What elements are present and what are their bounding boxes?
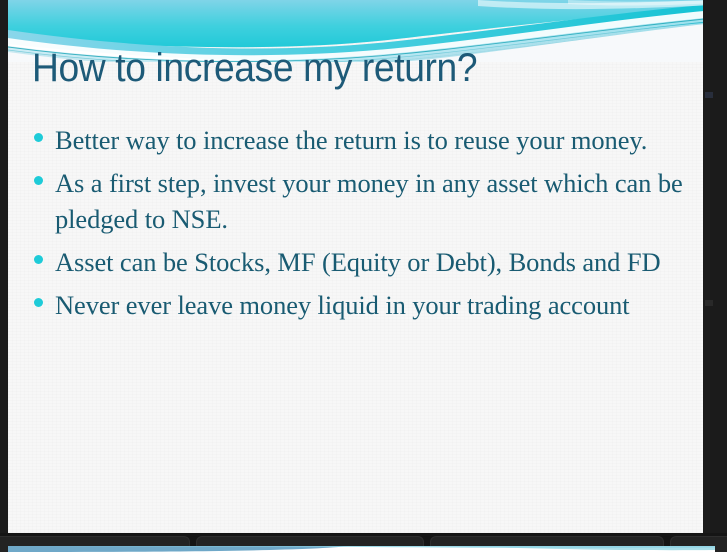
slide-body-bullet-list: Better way to increase the return is to …	[34, 122, 694, 330]
bullet-dot-icon	[34, 133, 43, 142]
list-item-text: Better way to increase the return is to …	[55, 122, 694, 158]
bullet-dot-icon	[34, 298, 43, 307]
list-item-text: Never ever leave money liquid in your tr…	[55, 287, 694, 323]
slide-canvas[interactable]: How to increase my return? Better way to…	[8, 0, 715, 533]
bullet-dot-icon	[34, 176, 43, 185]
list-item-text: Asset can be Stocks, MF (Equity or Debt)…	[55, 244, 694, 280]
slide-title: How to increase my return?	[32, 45, 609, 91]
list-item: Better way to increase the return is to …	[34, 122, 694, 158]
list-item: As a first step, invest your money in an…	[34, 165, 694, 237]
list-item-text: As a first step, invest your money in an…	[55, 165, 694, 237]
scrollbar-mark[interactable]	[705, 300, 713, 306]
next-slide-preview[interactable]	[8, 546, 715, 552]
list-item: Asset can be Stocks, MF (Equity or Debt)…	[34, 244, 694, 280]
bullet-dot-icon	[34, 255, 43, 264]
scrollbar-track[interactable]	[703, 0, 715, 533]
scrollbar-thumb[interactable]	[705, 92, 713, 98]
presentation-viewer: How to increase my return? Better way to…	[0, 0, 727, 552]
list-item: Never ever leave money liquid in your tr…	[34, 287, 694, 323]
